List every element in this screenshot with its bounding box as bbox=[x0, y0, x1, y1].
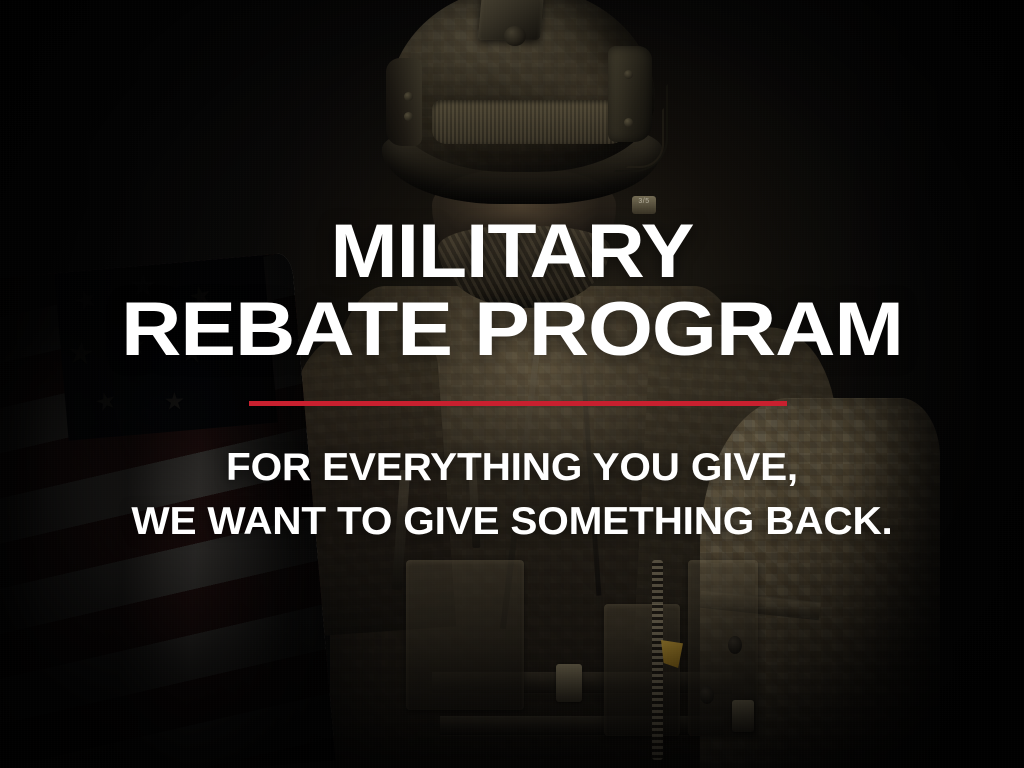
text-overlay: MILITARY REBATE PROGRAM FOR EVERYTHING Y… bbox=[0, 0, 1024, 768]
military-rebate-program-banner: 3/5 ★ ★ ★ ★ ★ ★ ★ ★ MILITARY REBATE PROG… bbox=[0, 0, 1024, 768]
headline-line-2: REBATE PROGRAM bbox=[0, 292, 1024, 368]
subtitle-line-2: WE WANT TO GIVE SOMETHING BACK. bbox=[0, 500, 1024, 543]
red-divider-rule bbox=[249, 401, 787, 406]
subtitle-line-1: FOR EVERYTHING YOU GIVE, bbox=[0, 446, 1024, 489]
headline-line-1: MILITARY bbox=[0, 214, 1024, 290]
